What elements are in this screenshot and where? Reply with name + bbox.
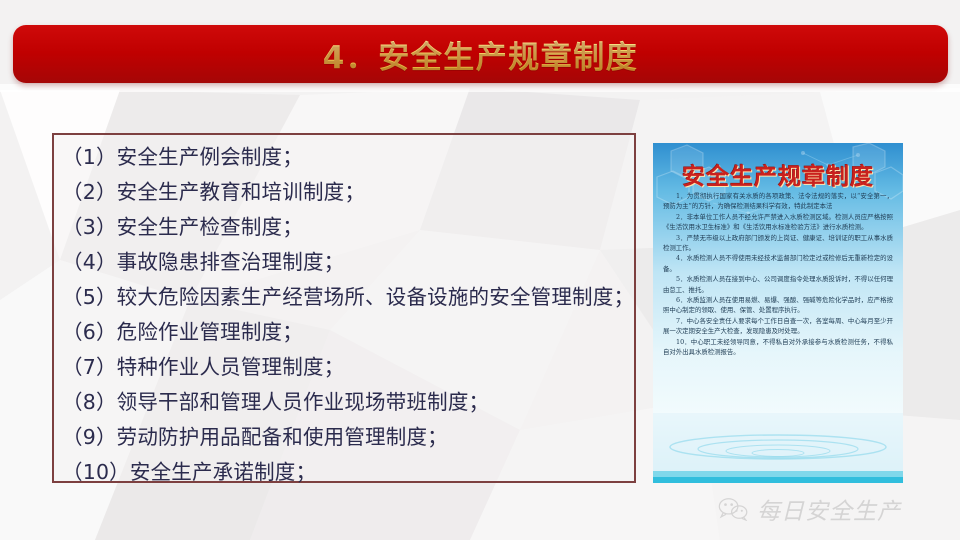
rules-list: （1）安全生产例会制度； （2）安全生产教育和培训制度； （3）安全生产检查制度… xyxy=(62,140,662,490)
poster-paragraph: 7．中心各安全责任人要求每个工作日自查一次，各室每周、中心每月至少开展一次定期安… xyxy=(663,316,893,337)
poster-paragraph: 3．严禁无市级以上政府部门颁发的上岗证、健康证、培训证的职工从事水质检测工作。 xyxy=(663,233,893,254)
list-item: （6）危险作业管理制度； xyxy=(62,315,662,350)
water-ripple-decoration xyxy=(653,413,903,483)
list-item: （9）劳动防护用品配备和使用管理制度； xyxy=(62,420,662,455)
poster-paragraph: 4．水质检测人员不得使用未经技术监督部门检定过或检修后无重新检定的设备。 xyxy=(663,253,893,274)
safety-rules-poster: 安全生产规章制度 1．为贯彻执行国家有关水质的各项政策、法令法规的落实，以“安全… xyxy=(653,143,903,483)
list-item: （10）安全生产承诺制度； xyxy=(62,455,662,490)
page-title: 4．安全生产规章制度 xyxy=(323,32,639,77)
list-item: （7）特种作业人员管理制度； xyxy=(62,350,662,385)
list-item: （4）事故隐患排查治理制度； xyxy=(62,245,662,280)
slide-canvas: 4．安全生产规章制度 （1）安全生产例会制度； （2）安全生产教育和培训制度； … xyxy=(0,0,960,540)
wechat-icon xyxy=(718,497,748,521)
poster-body-text: 1．为贯彻执行国家有关水质的各项政策、法令法规的落实，以“安全第一，预防为主”的… xyxy=(663,191,893,358)
list-item: （1）安全生产例会制度； xyxy=(62,140,662,175)
watermark: 每日安全生产 xyxy=(718,492,901,526)
poster-paragraph: 2．非本单位工作人员不经允许严禁进入水质检测区域。检测人员应严格按照《生活饮用水… xyxy=(663,212,893,233)
watermark-label: 每日安全生产 xyxy=(757,492,901,526)
poster-paragraph: 5．水质检测人员在接到中心、公司调度指令处理水质投诉时，不得以任何理由怠工、推托… xyxy=(663,274,893,295)
title-banner: 4．安全生产规章制度 xyxy=(13,25,948,83)
list-item: （3）安全生产检查制度； xyxy=(62,210,662,245)
poster-paragraph: 1．为贯彻执行国家有关水质的各项政策、法令法规的落实，以“安全第一，预防为主”的… xyxy=(663,191,893,212)
poster-paragraph: 10．中心职工未经领导同意，不得私自对外承接参与水质检测任务，不得私自对外出具水… xyxy=(663,337,893,358)
list-item: （5）较大危险因素生产经营场所、设备设施的安全管理制度； xyxy=(62,280,662,315)
list-item: （2）安全生产教育和培训制度； xyxy=(62,175,662,210)
poster-paragraph: 6．水质监测人员在使用易燃、易爆、强酸、强碱等危险化学品时，应严格按照中心制定的… xyxy=(663,295,893,316)
poster-title: 安全生产规章制度 xyxy=(653,157,903,191)
list-item: （8）领导干部和管理人员作业现场带班制度； xyxy=(62,385,662,420)
